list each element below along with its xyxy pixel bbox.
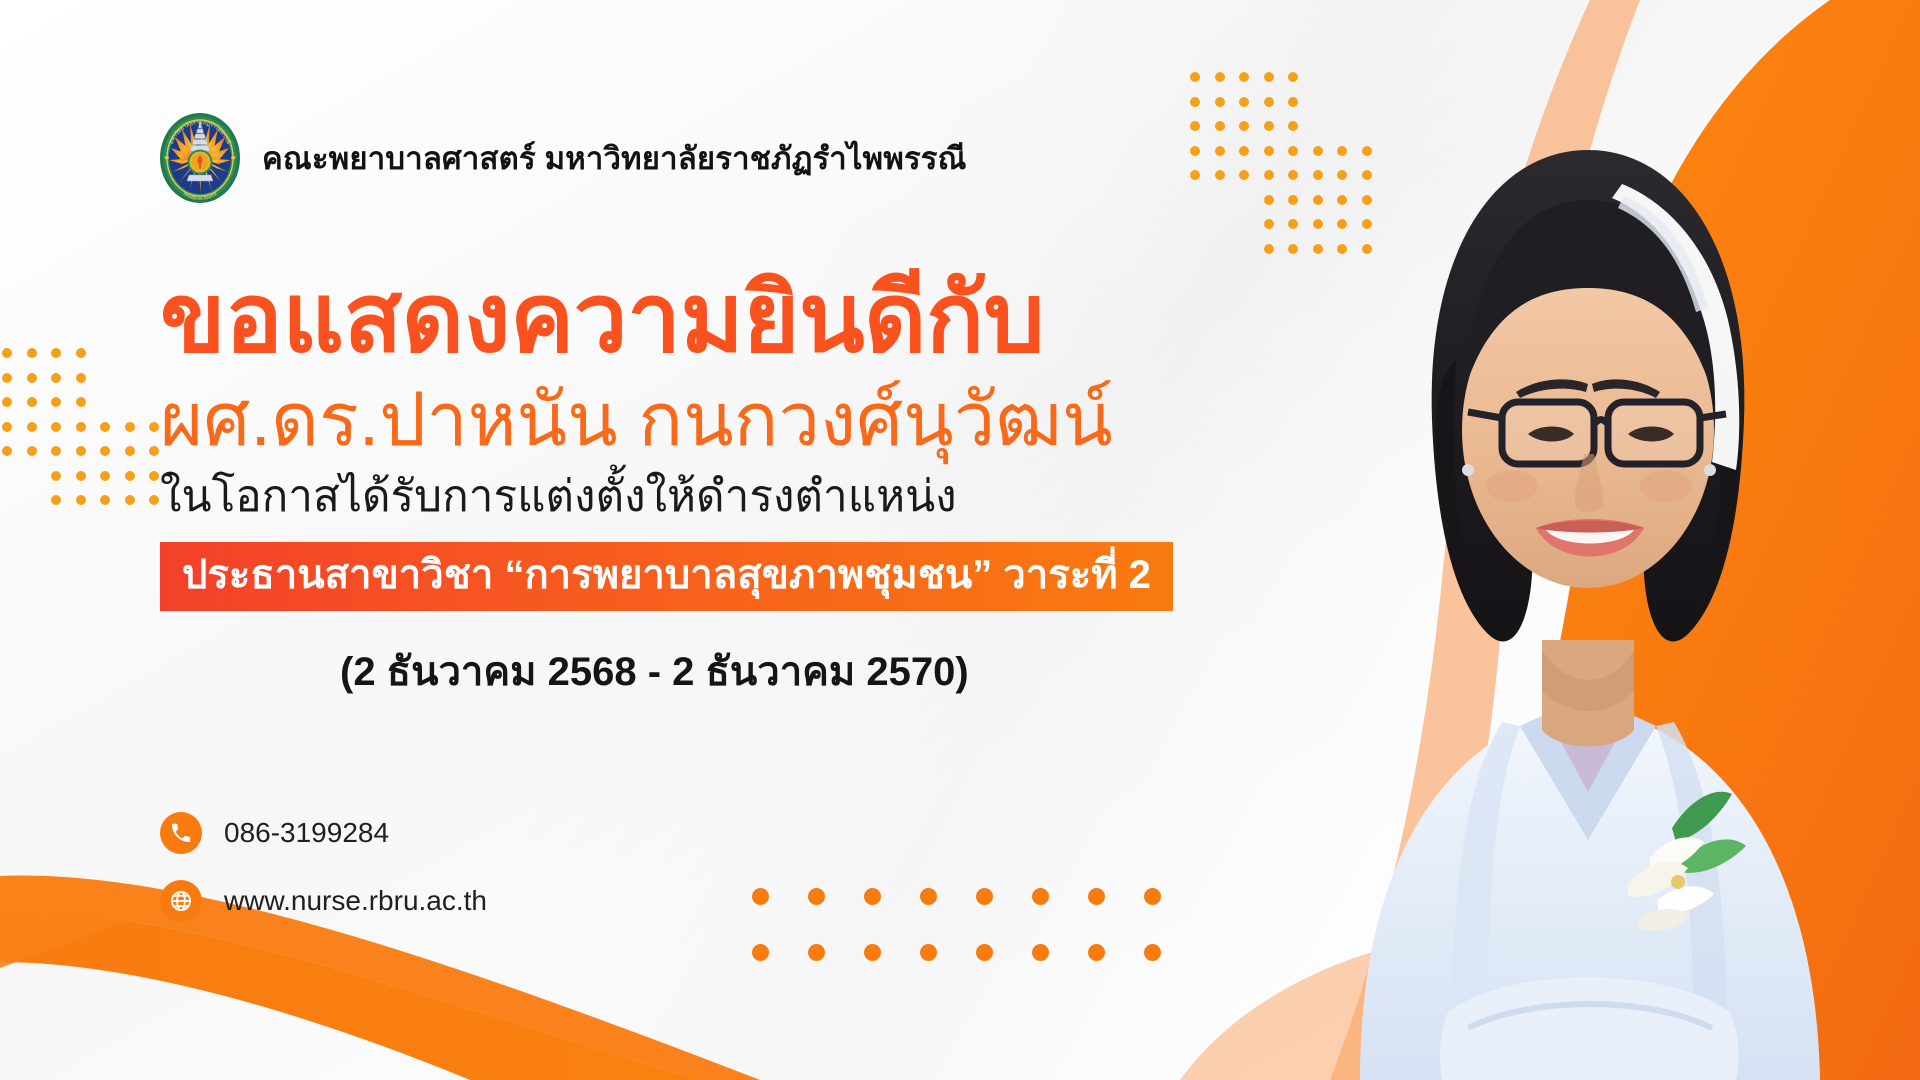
decorative-dot	[864, 944, 881, 961]
decorative-dot	[27, 373, 37, 383]
occasion-text: ในโอกาสได้รับการแต่งตั้งให้ดำรงตำแหน่ง	[160, 471, 1290, 524]
decorative-dot	[1215, 146, 1225, 156]
decorative-dot	[1088, 944, 1105, 961]
decorative-dot	[1288, 244, 1298, 254]
decorative-dot	[1362, 146, 1372, 156]
decorative-dot	[864, 888, 881, 905]
decorative-dot	[1264, 72, 1274, 82]
decorative-dot	[1190, 97, 1200, 107]
decorative-dot	[808, 888, 825, 905]
decorative-dot	[51, 373, 61, 383]
decorative-dot	[2, 422, 12, 432]
decorative-dot	[752, 888, 769, 905]
decorative-dot	[920, 944, 937, 961]
decorative-dot	[27, 348, 37, 358]
decorative-dot	[1264, 97, 1274, 107]
term-dates: (2 ธันวาคม 2568 - 2 ธันวาคม 2570)	[340, 639, 1290, 703]
decorative-dot	[76, 373, 86, 383]
decorative-dot	[27, 397, 37, 407]
decorative-dot	[51, 397, 61, 407]
decorative-dot	[1313, 195, 1323, 205]
decorative-dot	[752, 944, 769, 961]
decorative-dot	[27, 422, 37, 432]
decorative-dot	[976, 944, 993, 961]
decorative-dot	[1288, 121, 1298, 131]
decorative-dot	[1362, 170, 1372, 180]
decorative-dot	[1264, 244, 1274, 254]
decorative-dot	[1264, 121, 1274, 131]
decorative-dot	[100, 495, 110, 505]
decorative-dot	[1215, 170, 1225, 180]
decorative-dot	[76, 422, 86, 432]
decorative-dot	[1362, 195, 1372, 205]
decorative-dot	[1190, 146, 1200, 156]
congratulations-headline: ขอแสดงความยินดีกับ	[160, 268, 1290, 370]
decorative-dot	[1313, 244, 1323, 254]
decorative-dot	[125, 422, 135, 432]
headline-block: ขอแสดงความยินดีกับ ผศ.ดร.ปาหนัน กนกวงศ์น…	[160, 268, 1290, 703]
phone-icon	[160, 812, 202, 854]
decorative-dot	[76, 495, 86, 505]
decorative-dot	[1239, 146, 1249, 156]
decorative-dot	[1264, 146, 1274, 156]
decorative-dot	[149, 422, 159, 432]
website-url: www.nurse.rbru.ac.th	[224, 887, 487, 915]
decorative-dot	[125, 471, 135, 481]
decorative-dot	[1362, 244, 1372, 254]
decorative-dot	[1144, 944, 1161, 961]
decorative-dot	[1337, 195, 1347, 205]
rbru-seal-icon: มหาวิทยาลัยราชภัฏรำไพพรรณี RAMBHAI BARNI	[158, 112, 242, 204]
decorative-dot	[1088, 888, 1105, 905]
decorative-dot	[1190, 121, 1200, 131]
contact-row-website[interactable]: www.nurse.rbru.ac.th	[160, 880, 487, 922]
decorative-dot	[1264, 219, 1274, 229]
dot-row-bottom	[752, 888, 1172, 958]
decorative-dot	[51, 422, 61, 432]
decorative-dot	[1288, 72, 1298, 82]
decorative-dot	[100, 422, 110, 432]
decorative-dot	[27, 446, 37, 456]
decorative-dot	[1239, 170, 1249, 180]
decorative-dot	[1190, 72, 1200, 82]
decorative-dot	[1362, 219, 1372, 229]
decorative-dot	[1337, 219, 1347, 229]
decorative-dot	[2, 446, 12, 456]
decorative-dot	[51, 471, 61, 481]
decorative-dot	[125, 446, 135, 456]
decorative-dot	[1239, 97, 1249, 107]
decorative-dot	[100, 446, 110, 456]
honoree-name: ผศ.ดร.ปาหนัน กนกวงศ์นุวัฒน์	[160, 376, 1290, 463]
decorative-dot	[1264, 195, 1274, 205]
decorative-dot	[100, 471, 110, 481]
decorative-dot	[2, 373, 12, 383]
congratulations-banner: มหาวิทยาลัยราชภัฏรำไพพรรณี RAMBHAI BARNI…	[0, 0, 1920, 1080]
decorative-dot	[76, 471, 86, 481]
decorative-dot	[125, 495, 135, 505]
decorative-dot	[149, 446, 159, 456]
decorative-dot	[1313, 170, 1323, 180]
decorative-dot	[149, 471, 159, 481]
decorative-dot	[976, 888, 993, 905]
decorative-dot	[1215, 97, 1225, 107]
decorative-dot	[1215, 72, 1225, 82]
decorative-dot	[2, 348, 12, 358]
decorative-dot	[76, 446, 86, 456]
decorative-dot	[1337, 244, 1347, 254]
decorative-dot	[1313, 146, 1323, 156]
decorative-dot	[1032, 888, 1049, 905]
decorative-dot	[1288, 146, 1298, 156]
decorative-dot	[51, 348, 61, 358]
decorative-dot	[1264, 170, 1274, 180]
phone-number: 086-3199284	[224, 819, 389, 847]
decorative-dot	[1337, 146, 1347, 156]
organization-name: คณะพยาบาลศาสตร์ มหาวิทยาลัยราชภัฏรำไพพรร…	[262, 143, 967, 174]
decorative-dot	[1239, 121, 1249, 131]
decorative-dot	[76, 397, 86, 407]
brand-header: มหาวิทยาลัยราชภัฏรำไพพรรณี RAMBHAI BARNI…	[158, 112, 967, 204]
decorative-dot	[1144, 888, 1161, 905]
decorative-dot	[1288, 97, 1298, 107]
decorative-dot	[1337, 170, 1347, 180]
decorative-dot	[1288, 219, 1298, 229]
decorative-dot	[1215, 121, 1225, 131]
decorative-dot	[149, 495, 159, 505]
decorative-dot	[51, 446, 61, 456]
decorative-dot	[2, 397, 12, 407]
decorative-dot	[1190, 170, 1200, 180]
decorative-dot	[808, 944, 825, 961]
decorative-dot	[1313, 219, 1323, 229]
decorative-dot	[1032, 944, 1049, 961]
globe-icon	[160, 880, 202, 922]
decorative-dot	[1239, 72, 1249, 82]
decorative-dot	[1288, 195, 1298, 205]
contact-row-phone[interactable]: 086-3199284	[160, 812, 487, 854]
decorative-dot	[76, 348, 86, 358]
decorative-dot	[51, 495, 61, 505]
decorative-dot	[920, 888, 937, 905]
decorative-dot	[1288, 170, 1298, 180]
contact-block: 086-3199284 www.nurse.rbru.ac.th	[160, 812, 487, 948]
position-title-bar: ประธานสาขาวิชา “การพยาบาลสุขภาพชุมชน” วา…	[160, 542, 1173, 611]
